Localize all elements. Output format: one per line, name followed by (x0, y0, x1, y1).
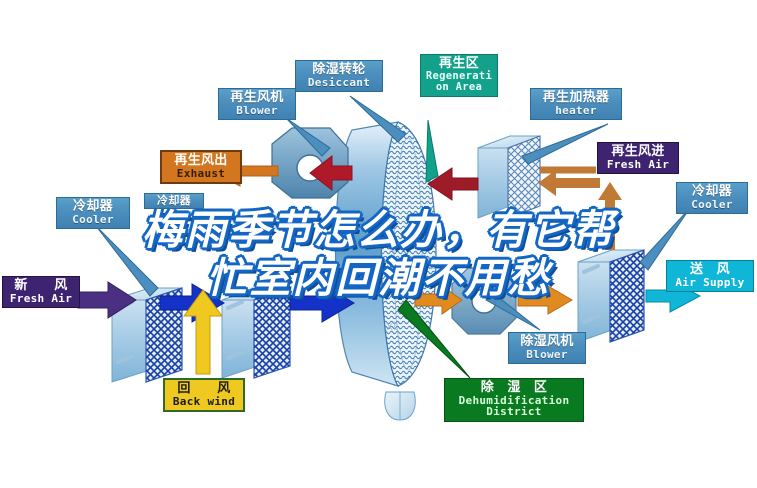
arrow-regen-air-to-heater (538, 170, 600, 196)
regeneration-heater (478, 136, 540, 218)
label-dehum-district-en2: District (449, 406, 579, 418)
label-fresh-air-in: 新 风 Fresh Air (2, 276, 80, 308)
label-cooler-right-cn: 冷却器 (681, 185, 743, 199)
label-back-wind: 回 风 Back wind (163, 378, 245, 412)
label-cooler-left-small: 冷却器 (144, 193, 204, 209)
label-cooler-right-en: Cooler (681, 199, 743, 211)
label-regeneration-heater-cn: 再生加热器 (535, 91, 617, 105)
cooler-coil-mid (222, 288, 290, 378)
cooler-coil-right (578, 250, 644, 342)
label-dehum-blower: 除湿风机 Blower (508, 332, 586, 364)
label-desiccant: 除湿转轮 Desiccant (295, 60, 383, 92)
label-air-supply: 送 风 Air Supply (666, 260, 754, 292)
label-cooler-left-en: Cooler (61, 214, 125, 226)
label-desiccant-en: Desiccant (300, 77, 378, 89)
label-regeneration-heater: 再生加热器 heater (530, 88, 622, 120)
label-exhaust-en: Exhaust (166, 168, 236, 180)
label-regen-blower-en: Blower (223, 105, 291, 117)
label-regen-fresh-air-cn: 再生风进 (602, 145, 674, 159)
label-air-supply-cn: 送 风 (671, 263, 749, 277)
label-dehum-blower-en: Blower (513, 349, 581, 361)
label-back-wind-en: Back wind (169, 396, 239, 408)
arrow-regen-riser (598, 182, 622, 250)
label-fresh-air-in-en: Fresh Air (7, 293, 75, 305)
label-dehum-district-cn: 除 湿 区 (449, 381, 579, 395)
label-regen-fresh-air-en: Fresh Air (602, 159, 674, 171)
arrow-dehum-2 (518, 286, 572, 314)
label-fresh-air-in-cn: 新 风 (7, 279, 75, 293)
label-exhaust-cn: 再生风出 (166, 154, 236, 168)
label-desiccant-cn: 除湿转轮 (300, 63, 378, 77)
label-cooler-left-small-cn: 冷却器 (148, 195, 200, 207)
label-regen-fresh-air: 再生风进 Fresh Air (597, 142, 679, 174)
dehumidification-blower-housing (452, 268, 516, 334)
svg-text:xt: xt (386, 319, 398, 333)
label-cooler-right: 冷却器 Cooler (676, 182, 748, 214)
label-air-supply-en: Air Supply (671, 277, 749, 289)
label-regeneration-area-en2: on Area (425, 82, 493, 93)
label-dehum-blower-cn: 除湿风机 (513, 335, 581, 349)
schematic-canvas: xt (0, 0, 757, 488)
label-regeneration-area: 再生区 Regenerati on Area (420, 54, 498, 97)
label-cooler-left: 冷却器 Cooler (56, 197, 130, 229)
label-regeneration-heater-en: heater (535, 105, 617, 117)
label-regen-blower-cn: 再生风机 (223, 91, 291, 105)
label-regen-blower: 再生风机 Blower (218, 88, 296, 120)
label-cooler-left-cn: 冷却器 (61, 200, 125, 214)
label-back-wind-cn: 回 风 (169, 382, 239, 396)
label-regeneration-area-cn: 再生区 (425, 57, 493, 71)
label-dehumidification-district: 除 湿 区 Dehumidification District (444, 378, 584, 422)
label-exhaust: 再生风出 Exhaust (160, 150, 242, 184)
